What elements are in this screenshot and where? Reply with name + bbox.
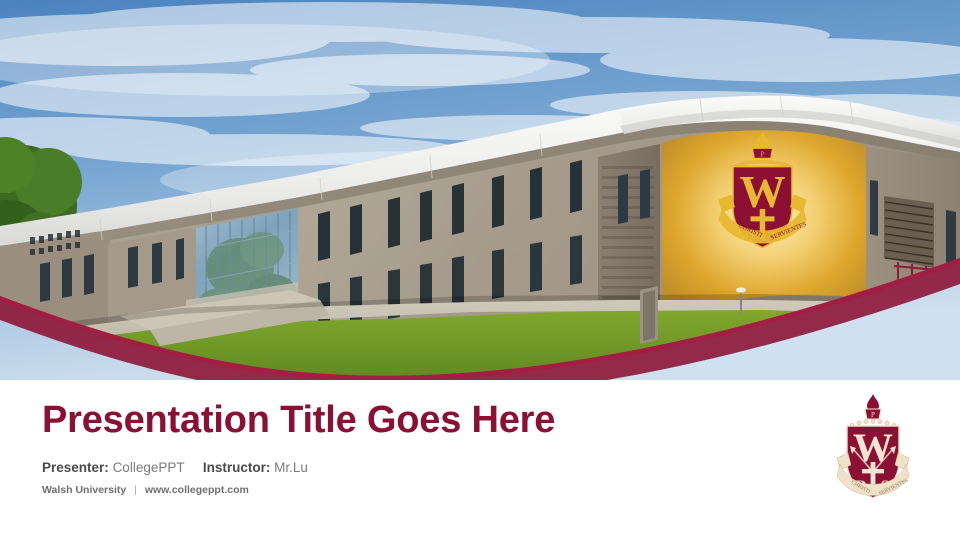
organization-website[interactable]: www.collegeppt.com	[145, 484, 249, 496]
instructor-value: Mr.Lu	[274, 460, 308, 475]
title-block: Presentation Title Goes Here Presenter: …	[42, 400, 742, 497]
presentation-slide: P W D	[0, 0, 960, 540]
presenter-value: CollegePPT	[113, 460, 185, 475]
crest-icon: P W	[836, 392, 910, 504]
hero-photo-area: P W D	[0, 0, 960, 380]
organization-line: Walsh University | www.collegeppt.com	[42, 484, 742, 497]
page-title: Presentation Title Goes Here	[42, 400, 742, 442]
louvre-grille	[884, 196, 934, 268]
svg-text:P: P	[760, 150, 764, 159]
organization-name: Walsh University	[42, 484, 126, 496]
presenter-meta-line: Presenter: CollegePPT Instructor: Mr.Lu	[42, 460, 742, 476]
instructor-label: Instructor:	[203, 460, 271, 475]
presenter-label: Presenter:	[42, 460, 109, 475]
svg-text:P: P	[871, 411, 875, 419]
hero-photo-illustration: P W D	[0, 0, 960, 380]
organization-separator: |	[129, 484, 142, 496]
walsh-university-crest: P W	[836, 392, 910, 504]
